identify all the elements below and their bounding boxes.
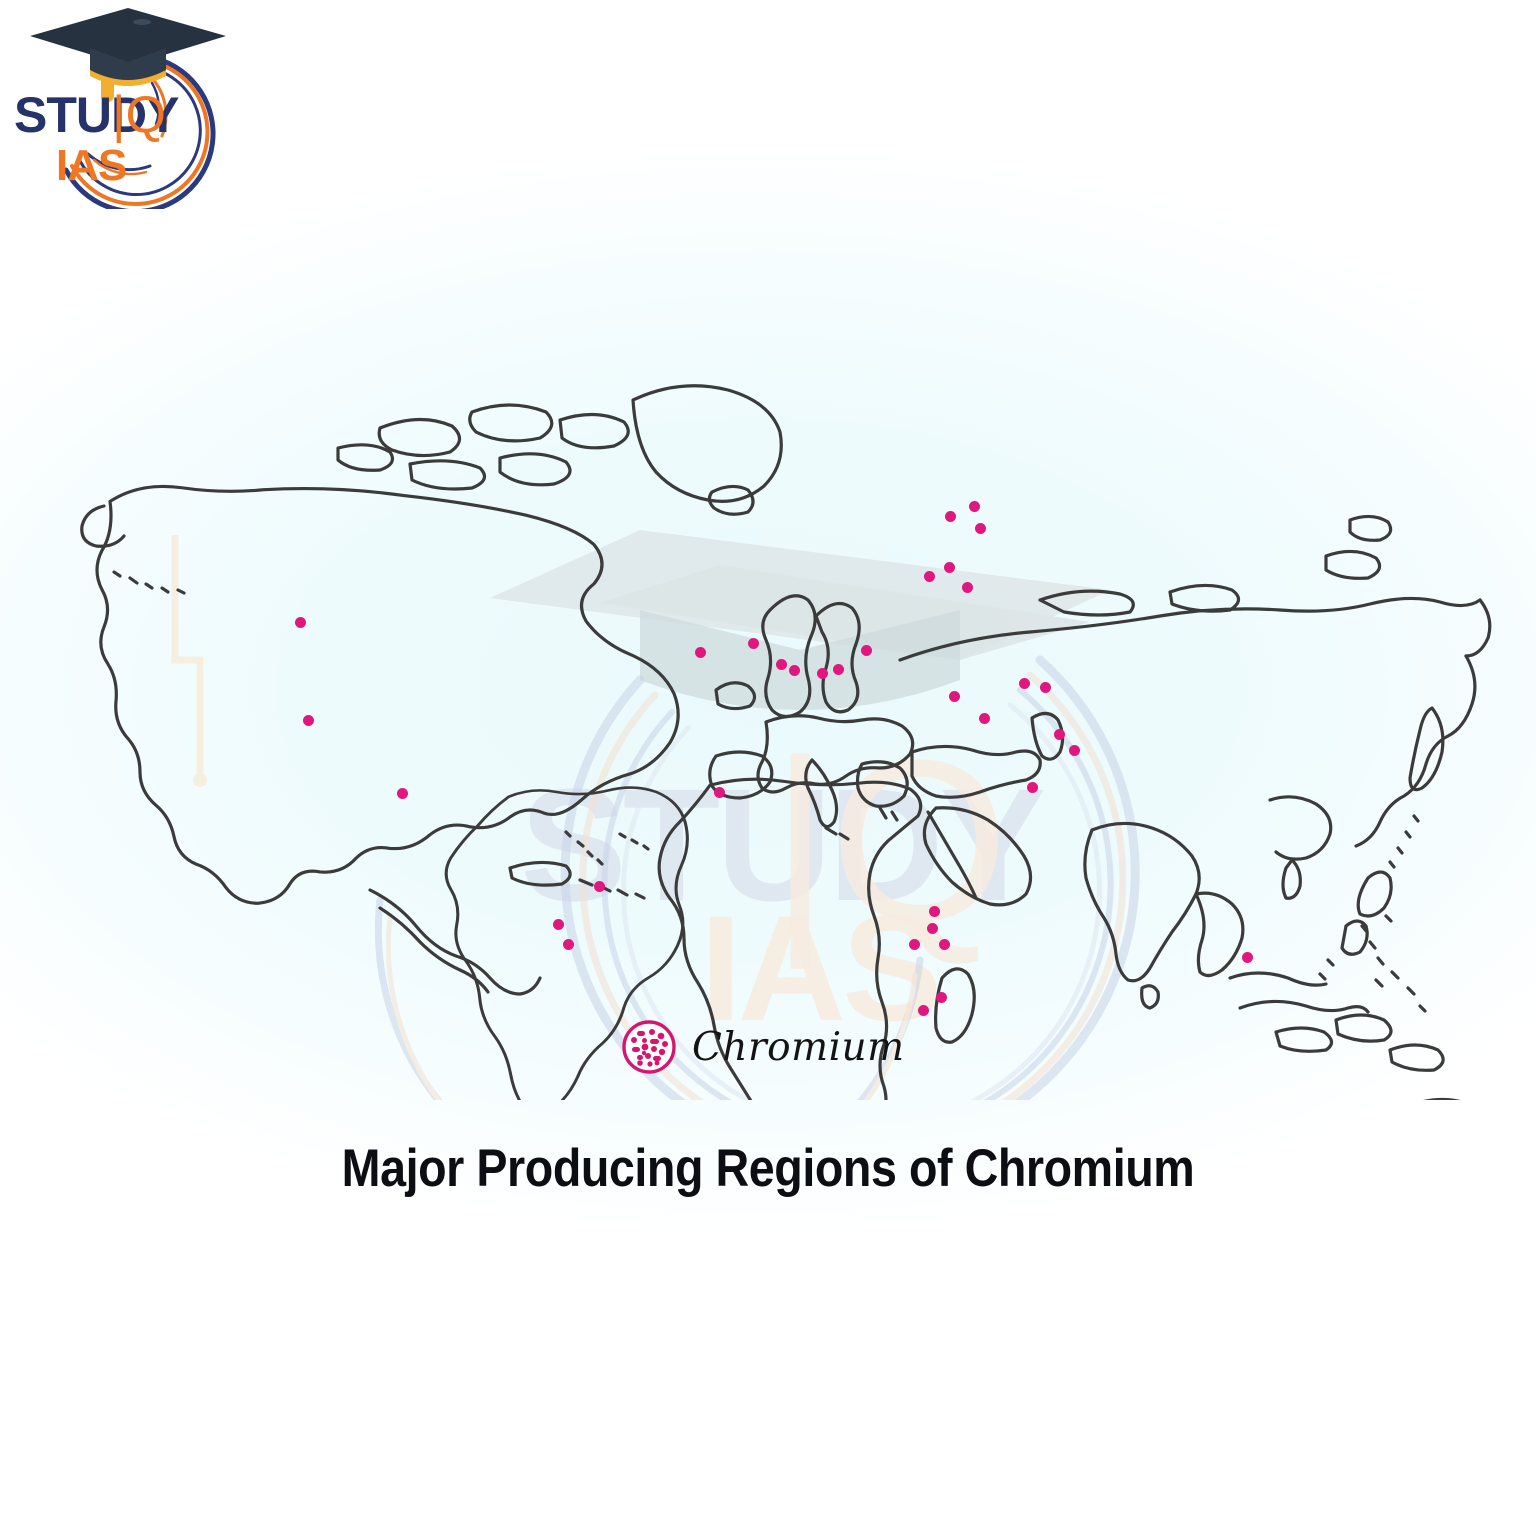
chromium-marker (553, 919, 564, 930)
chromium-marker (789, 665, 800, 676)
chromium-marker (748, 638, 759, 649)
chromium-marker (563, 939, 574, 950)
chromium-marker (833, 664, 844, 675)
chromium-marker (817, 668, 828, 679)
chromium-marker (695, 647, 706, 658)
chromium-marker (397, 788, 408, 799)
chromium-marker (594, 881, 605, 892)
chromium-marker (776, 659, 787, 670)
chromium-marker (944, 562, 955, 573)
chromium-marker (1054, 729, 1065, 740)
chromium-marker (924, 571, 935, 582)
chromium-marker (1027, 782, 1038, 793)
chromium-marker (1040, 682, 1051, 693)
legend-label: Chromium (692, 1025, 905, 1070)
chromium-marker (969, 501, 980, 512)
chromium-marker (1019, 678, 1030, 689)
chromium-marker (939, 939, 950, 950)
chromium-marker (962, 582, 973, 593)
world-map: STUDY IAS |Q (80, 360, 1500, 1100)
page-title: Major Producing Regions of Chromium (92, 1138, 1444, 1199)
chromium-marker (1242, 952, 1253, 963)
chromium-marker-layer (80, 360, 1500, 1100)
logo-svg: STUDY |Q IAS (10, 4, 250, 209)
chromium-marker (945, 511, 956, 522)
chromium-marker (909, 939, 920, 950)
logo-text-iq: |Q (112, 86, 166, 144)
chromium-marker (303, 715, 314, 726)
chromium-marker (861, 645, 872, 656)
chromium-marker (975, 523, 986, 534)
chromium-marker (295, 617, 306, 628)
map-legend: Chromium (620, 1018, 905, 1076)
chromium-marker (929, 906, 940, 917)
chromium-marker (927, 923, 938, 934)
studyiq-ias-logo: STUDY |Q IAS (10, 4, 250, 209)
chromium-ore-icon (620, 1018, 678, 1076)
chromium-marker (714, 787, 725, 798)
chromium-marker (979, 713, 990, 724)
chromium-marker (1069, 745, 1080, 756)
chromium-marker (949, 691, 960, 702)
logo-text-ias: IAS (56, 141, 126, 190)
chromium-marker (936, 992, 947, 1003)
chromium-marker (918, 1005, 929, 1016)
